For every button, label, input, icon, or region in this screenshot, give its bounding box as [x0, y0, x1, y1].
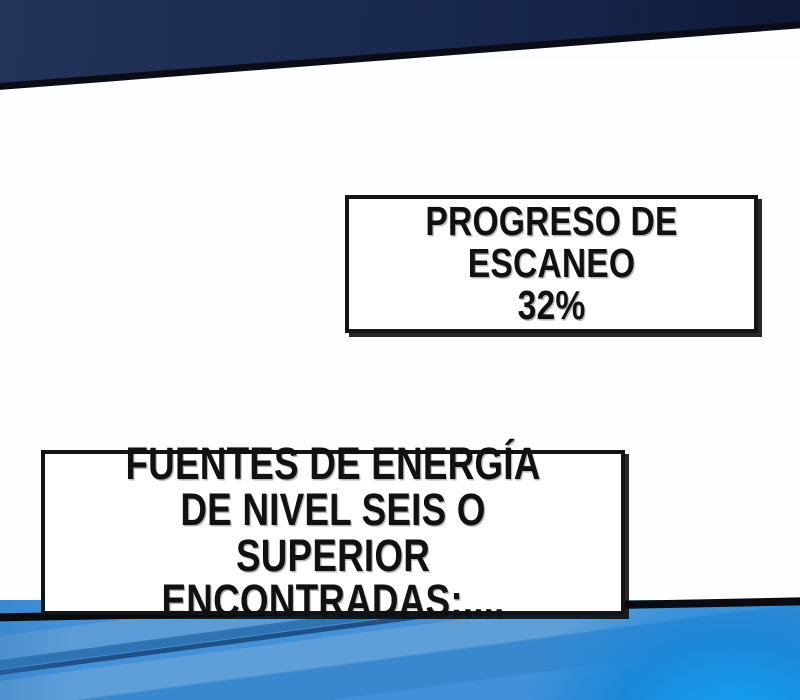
comic-panel: PROGRESO DE ESCANEO 32% FUENTES DE ENERG… — [0, 0, 800, 700]
energy-sources-caption-box: FUENTES DE ENERGÍA DE NIVEL SEIS O SUPER… — [41, 450, 625, 615]
horizon-glow — [530, 600, 800, 700]
scan-progress-caption-box: PROGRESO DE ESCANEO 32% — [345, 195, 758, 333]
energy-sources-text: FUENTES DE ENERGÍA DE NIVEL SEIS O SUPER… — [97, 441, 569, 625]
scan-progress-text: PROGRESO DE ESCANEO 32% — [385, 201, 717, 326]
